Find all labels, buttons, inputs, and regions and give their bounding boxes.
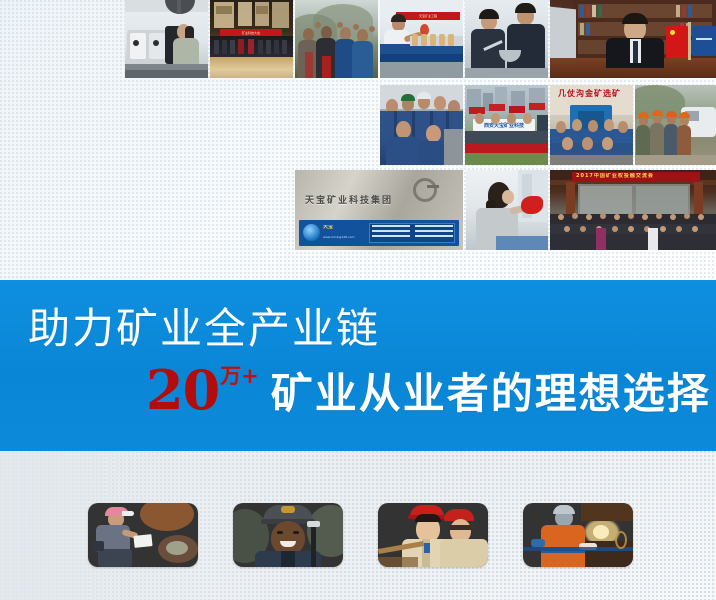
photo-executive-at-desk-with-china-flag (550, 0, 716, 78)
conference-banner-text: 2017中国矿业权投融交流会 (576, 173, 696, 180)
photo-woman-holding-red-flag (466, 170, 548, 250)
slogan-line-2-text: 矿业从业者的理想选择 (271, 372, 711, 416)
user-count-number: 20 (146, 364, 219, 416)
thumb-geologist-taking-notes-at-outcrop (88, 503, 198, 567)
photo-two-technicians-with-steel-pan (465, 0, 548, 78)
slogan-line-2: 20 万+ 矿业从业者的理想选择 (146, 364, 711, 416)
photo-lab-technician-at-microscope (125, 0, 208, 78)
slogan-line-1: 助力矿业全产业链 (28, 306, 380, 352)
photo-company-metal-signboard: 天宝矿业科技集团 天宝 www.mining126.com (295, 170, 463, 250)
photo-conference-group-photo-under-pavilion: 2017中国矿业权投融交流会 (550, 170, 716, 250)
photo-worker-at-sample-assembly-line: 天宝矿业工程 (380, 0, 463, 78)
photo-group-of-blue-uniform-workers-portrait (380, 85, 463, 165)
photo-award-ceremony-stage-red-banner: 矿业科技大会 (210, 0, 293, 78)
thumb-smiling-miner-with-helmet-lamp (233, 503, 343, 567)
signboard-company-name: 天宝矿业科技集团 (305, 196, 455, 206)
photo-workers-in-orange-helmets-beside-van (635, 85, 716, 165)
photo-team-outdoors-with-white-company-banner: 西安天宝矿业科技 (465, 85, 548, 165)
mine-building-sign: 几仗沟金矿选矿 (558, 89, 628, 99)
photo-four-men-cheering-on-mountain (295, 0, 378, 78)
thumb-two-workers-in-red-helmets (378, 503, 488, 567)
photo-seated-crew-in-front-of-mine-building: 几仗沟金矿选矿 (550, 85, 633, 165)
promo-poster: 矿业科技大会 天宝 (0, 0, 716, 600)
signboard-url-text: www.mining126.com (323, 235, 365, 239)
signboard-logo-text: 天宝 (323, 225, 357, 229)
thumb-furnace-worker-pouring-molten-metal (523, 503, 633, 567)
user-count-unit: 万+ (220, 366, 259, 387)
